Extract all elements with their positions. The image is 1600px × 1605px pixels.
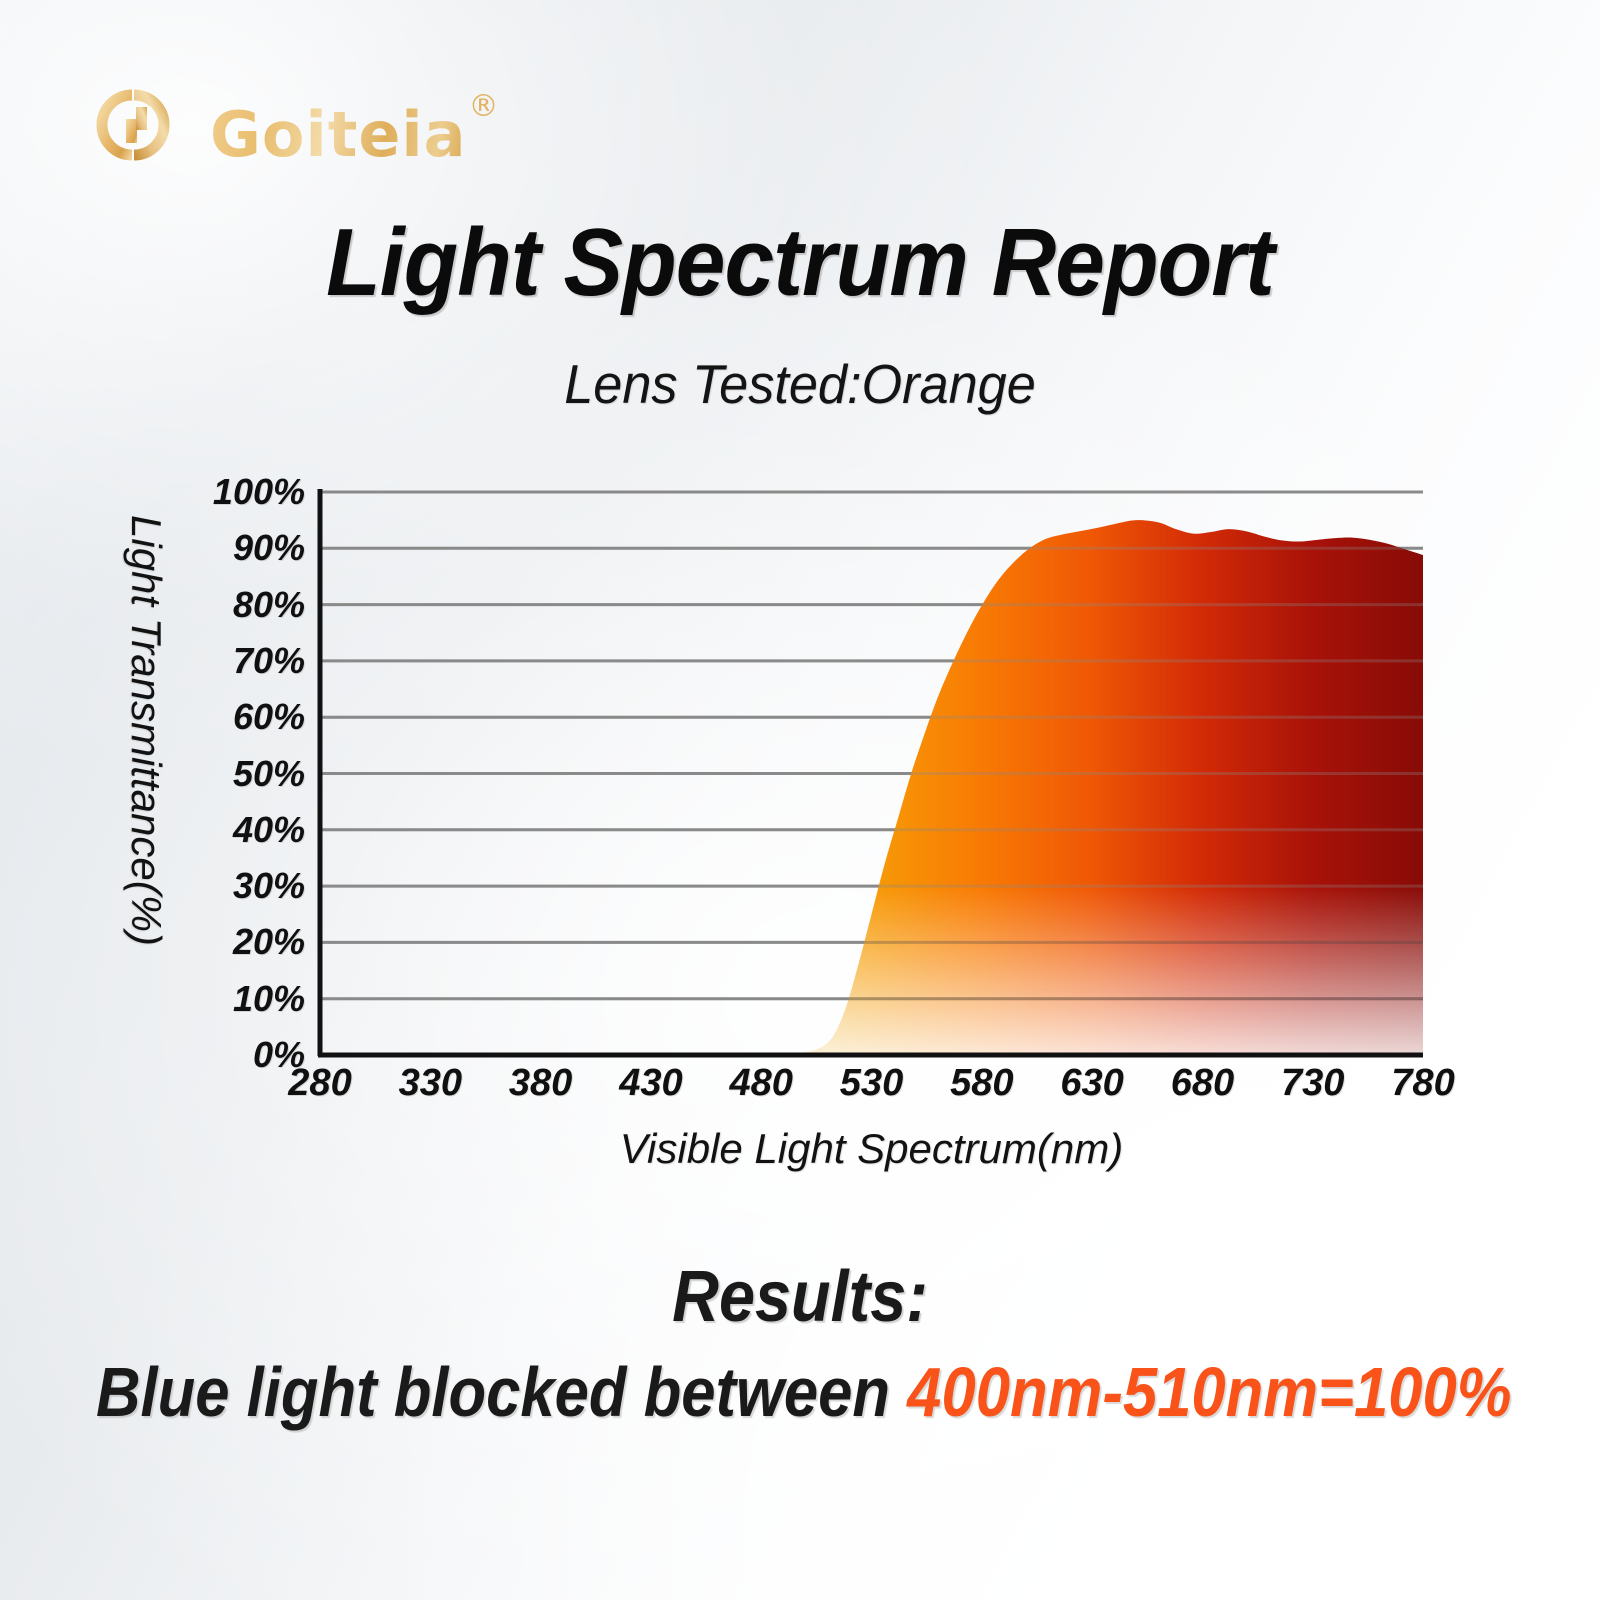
results-statement-prefix: Blue light blocked between [96,1353,907,1431]
registered-trademark-icon: ® [469,84,499,122]
brand-logo: Goiteia ® [70,72,499,178]
x-tick-label: 330 [365,1062,495,1105]
y-tick-label: 90% [165,527,305,569]
y-tick-label: 100% [165,471,305,513]
x-tick-label: 730 [1248,1062,1378,1105]
y-tick-label: 40% [165,809,305,851]
y-tick-label: 0% [165,1034,305,1076]
x-tick-label: 430 [586,1062,716,1105]
results-statement: Blue light blocked between 400nm-510nm=1… [96,1352,1504,1432]
y-tick-label: 70% [165,640,305,682]
chart-gridlines-overlay [320,492,1423,999]
report-page: Goiteia ® Light Spectrum Report Lens Tes… [0,0,1600,1600]
transmittance-area [320,520,1423,1055]
page-subtitle: Lens Tested:Orange [40,352,1560,416]
y-tick-label: 20% [165,921,305,963]
y-axis-title: Light Transmittance(%) [110,515,170,1075]
y-tick-label: 80% [165,584,305,626]
x-tick-label: 530 [807,1062,937,1105]
y-tick-label: 50% [165,753,305,795]
page-title: Light Spectrum Report [56,208,1544,318]
chart-gridlines [320,492,1423,999]
x-tick-label: 630 [1027,1062,1157,1105]
x-axis-title: Visible Light Spectrum(nm) [320,1125,1423,1173]
x-tick-label: 380 [476,1062,606,1105]
y-tick-label: 10% [165,978,305,1020]
interlocking-rings-logo-icon [70,73,196,177]
x-tick-label: 580 [917,1062,1047,1105]
brand-name: Goiteia [210,84,467,166]
x-tick-label: 780 [1358,1062,1488,1105]
results-heading: Results: [80,1256,1520,1338]
x-tick-label: 280 [255,1062,385,1105]
y-tick-label: 60% [165,696,305,738]
y-tick-label: 30% [165,865,305,907]
results-statement-value: 400nm-510nm=100% [907,1353,1511,1431]
x-tick-label: 480 [696,1062,826,1105]
x-tick-label: 680 [1137,1062,1267,1105]
